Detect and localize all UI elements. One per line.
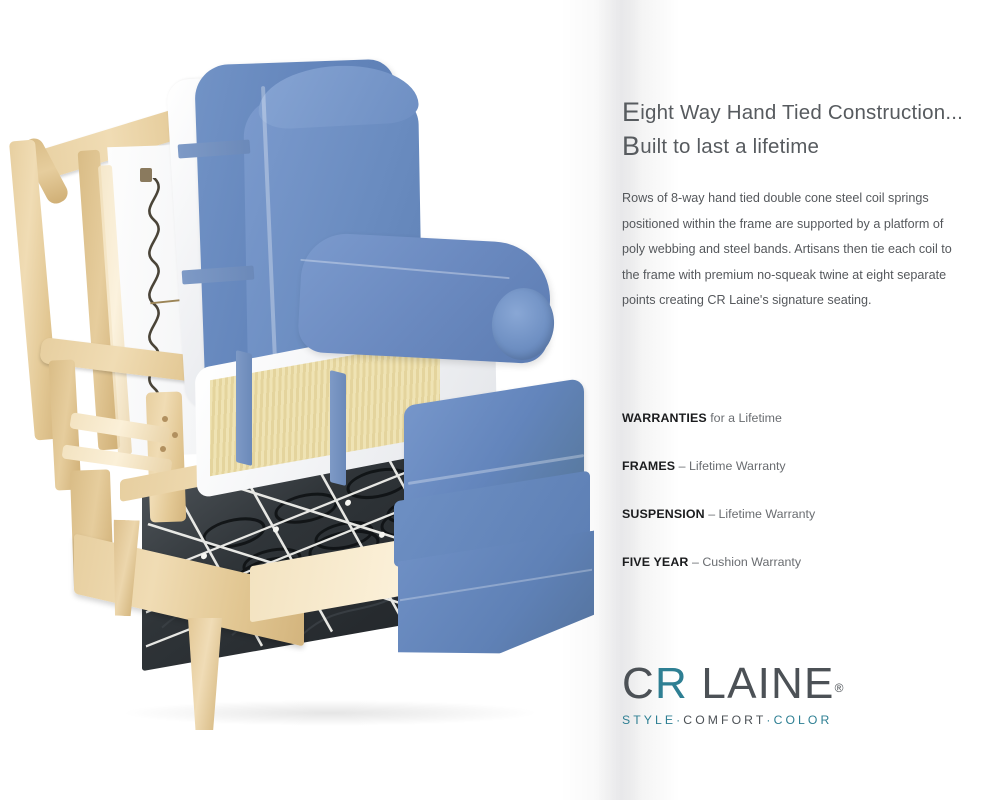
brand-tagline: STYLE·COMFORT·COLOR [622,713,962,727]
warranty-heading-bold: WARRANTIES [622,411,707,425]
warranty-desc: – Cushion Warranty [689,555,801,569]
headline-line-2: Built to last a lifetime [622,130,963,164]
warranty-term: SUSPENSION [622,507,705,521]
dowel-peg-2 [172,432,178,438]
warranty-item-five-year: FIVE YEAR – Cushion Warranty [622,554,967,570]
page-root: Eight Way Hand Tied Construction... Buil… [0,0,1000,800]
warranty-term: FRAMES [622,459,675,473]
headline-line-1-text: ight Way Hand Tied Construction... [640,101,963,124]
tagline-color: COLOR [774,713,833,727]
brand-wordmark: CR LAINE® [622,660,962,712]
warranty-desc: – Lifetime Warranty [705,507,815,521]
dowel-peg-1 [162,416,168,422]
seat-cushion-strap-2 [330,370,346,486]
warranties-block: WARRANTIES for a Lifetime FRAMES – Lifet… [622,410,967,602]
headline-dropcap-b: B [622,131,640,161]
warranty-item-suspension: SUSPENSION – Lifetime Warranty [622,506,967,522]
ground-shadow [120,700,540,726]
headline-block: Eight Way Hand Tied Construction... Buil… [622,96,963,327]
tagline-dot-2: · [766,713,773,727]
headline-line-1: Eight Way Hand Tied Construction... [622,96,963,130]
headline-line-2-text: uilt to last a lifetime [640,135,819,158]
headline-dropcap-e: E [622,97,640,127]
seat-cushion-strap-1 [236,350,252,466]
brand-laine: LAINE [688,659,835,708]
tagline-comfort: COMFORT [683,713,766,727]
warranty-desc: – Lifetime Warranty [675,459,785,473]
body-paragraph: Rows of 8-way hand tied double cone stee… [622,186,958,314]
brand-logo: CR LAINE® STYLE·COMFORT·COLOR [622,660,962,727]
registered-trademark-icon: ® [835,681,845,695]
content-column: Eight Way Hand Tied Construction... Buil… [622,0,982,800]
warranty-heading-rest: for a Lifetime [707,411,782,425]
warranty-item-frames: FRAMES – Lifetime Warranty [622,458,967,474]
tagline-style: STYLE [622,713,676,727]
spring-clip-1 [140,168,152,182]
brand-letter-r: R [655,659,688,708]
product-cutaway-photo [0,0,640,800]
brand-letter-c: C [622,659,655,708]
dowel-peg-3 [160,446,166,452]
warranty-term: FIVE YEAR [622,555,689,569]
warranty-heading: WARRANTIES for a Lifetime [622,410,967,426]
